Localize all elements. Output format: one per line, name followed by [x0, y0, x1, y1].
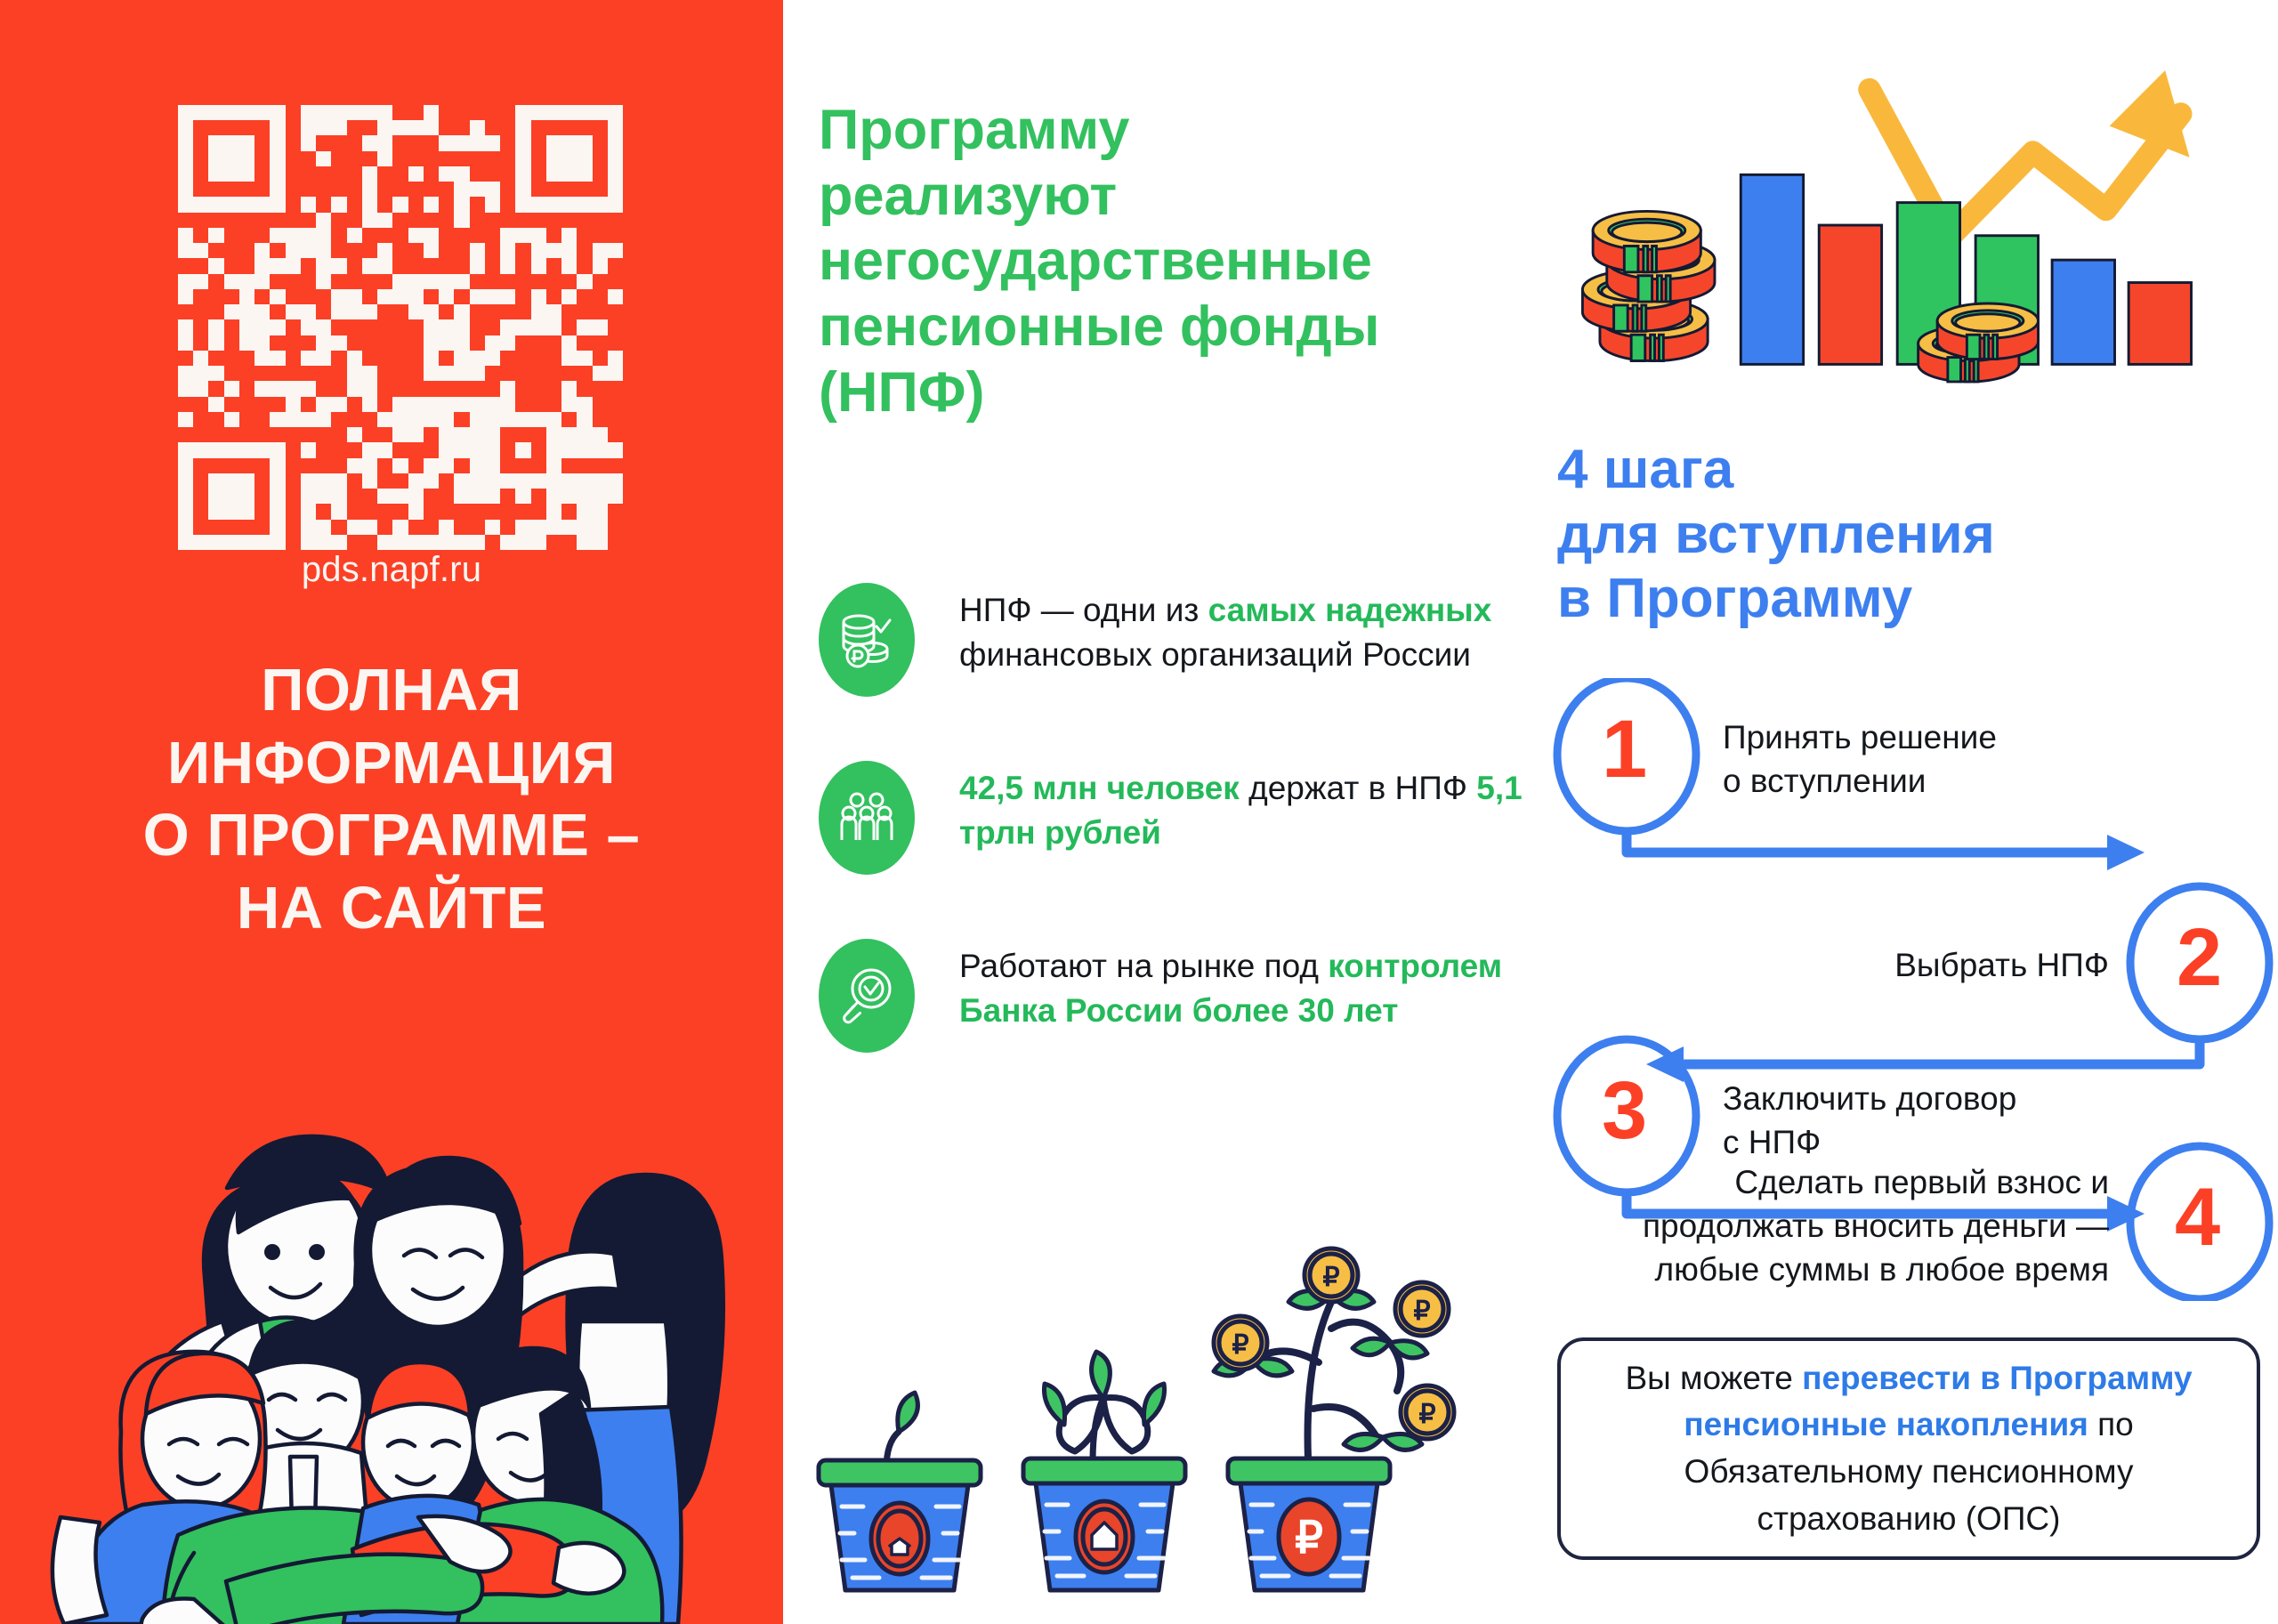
right-column: 4 шага для вступления в Программу: [1548, 0, 2278, 1624]
blue-heading-line-2: для вступления: [1557, 503, 2269, 568]
blue-heading-line-1: 4 шага: [1557, 438, 2269, 503]
step-4-line-3: любые суммы в любое время: [1557, 1248, 2109, 1291]
arrow-1-to-2: [1627, 831, 2107, 852]
fact-2-part-2: держат в НПФ: [1240, 770, 1476, 806]
coins-check-icon: [819, 583, 915, 697]
fact-3-part-1: Работают на рынке под: [959, 948, 1328, 984]
fact-2-highlight-1: 42,5 млн человек: [959, 770, 1240, 806]
steps-flow: 1 Принять решение о вступлении 2 Выбрать…: [1548, 678, 2278, 1301]
page-title-line-2: ИНФОРМАЦИЯ: [0, 727, 783, 800]
blue-heading-line-3: в Программу: [1557, 567, 2269, 632]
growing-plants-pots-illustration: ₽ ₽ ₽ ₽ ₽: [810, 1186, 1539, 1604]
page-title-line-3: О ПРОГРАММЕ –: [0, 799, 783, 872]
svg-text:₽: ₽: [1295, 1513, 1323, 1563]
step-3-line-2: с НПФ: [1723, 1120, 2016, 1164]
qr-code[interactable]: [178, 105, 623, 550]
step-number-2: 2: [2177, 917, 2222, 998]
green-heading-line-3: негосударственные: [819, 229, 1539, 295]
section-heading-program: Программу реализуют негосударственные пе…: [819, 98, 1539, 426]
section-heading-steps: 4 шага для вступления в Программу: [1557, 438, 2269, 632]
step-1-line-2: о вступлении: [1723, 759, 1997, 803]
green-heading-line-2: реализуют: [819, 164, 1539, 230]
site-url[interactable]: pds.napf.ru: [0, 550, 783, 590]
step-number-3: 3: [1602, 1070, 1647, 1151]
svg-text:₽: ₽: [1413, 1297, 1430, 1326]
step-label-1: Принять решение о вступлении: [1723, 715, 1997, 803]
green-heading-line-4: пенсионные фонды: [819, 295, 1539, 360]
green-heading-line-1: Программу: [819, 98, 1539, 164]
step-3-line-1: Заключить договор: [1723, 1077, 2016, 1120]
people-group-icon: [819, 761, 915, 875]
left-red-panel: pds.napf.ru ПОЛНАЯ ИНФОРМАЦИЯ О ПРОГРАММ…: [0, 0, 783, 1624]
step-4-line-1: Сделать первый взнос и: [1557, 1160, 2109, 1204]
svg-text:₽: ₽: [1322, 1263, 1339, 1292]
fact-text-3: Работают на рынке под контролем Банка Ро…: [959, 939, 1539, 1034]
green-heading-line-5: (НПФ): [819, 360, 1539, 426]
list-item: НПФ — одни из самых надежных финансовых …: [819, 583, 1539, 761]
step-number-4: 4: [2175, 1176, 2220, 1258]
step-4-line-2: продолжать вносить деньги —: [1557, 1204, 2109, 1248]
list-item: Работают на рынке под контролем Банка Ро…: [819, 939, 1539, 1117]
step-2-line-1: Выбрать НПФ: [1842, 943, 2109, 987]
group-hug-people-illustration: [36, 1054, 756, 1624]
page-title: ПОЛНАЯ ИНФОРМАЦИЯ О ПРОГРАММЕ – НА САЙТЕ: [0, 654, 783, 945]
step-label-4: Сделать первый взнос и продолжать вносит…: [1557, 1160, 2109, 1292]
fact-text-2: 42,5 млн человек держат в НПФ 5,1 трлн р…: [959, 761, 1539, 856]
fact-text-1: НПФ — одни из самых надежных финансовых …: [959, 583, 1539, 678]
callout-text: Вы можете перевести в Программу пенсионн…: [1561, 1355, 2257, 1542]
arrowhead-1: [2107, 835, 2145, 870]
bar-chart-with-coins-and-growth-arrow: [1548, 36, 2260, 418]
transfer-savings-callout: Вы можете перевести в Программу пенсионн…: [1557, 1337, 2260, 1560]
step-1-line-1: Принять решение: [1723, 715, 1997, 759]
fact-1-highlight: самых надежных: [1208, 592, 1492, 628]
list-item: 42,5 млн человек держат в НПФ 5,1 трлн р…: [819, 761, 1539, 939]
step-number-1: 1: [1602, 708, 1647, 790]
page-title-line-4: НА САЙТЕ: [0, 872, 783, 945]
magnifier-check-icon: [819, 939, 915, 1053]
arrow-2-to-3: [1684, 1039, 2200, 1064]
callout-part-1: Вы можете: [1625, 1360, 1802, 1396]
step-label-2: Выбрать НПФ: [1842, 943, 2109, 987]
page-title-line-1: ПОЛНАЯ: [0, 654, 783, 727]
svg-text:₽: ₽: [1418, 1400, 1435, 1429]
infographic-poster: pds.napf.ru ПОЛНАЯ ИНФОРМАЦИЯ О ПРОГРАММ…: [0, 0, 2278, 1624]
facts-list: НПФ — одни из самых надежных финансовых …: [819, 583, 1539, 1117]
fact-1-part-3: финансовых организаций России: [959, 636, 1471, 673]
arrowhead-3: [2107, 1196, 2145, 1232]
middle-column: Программу реализуют негосударственные пе…: [801, 0, 1539, 1624]
step-label-3: Заключить договор с НПФ: [1723, 1077, 2016, 1164]
svg-text:₽: ₽: [1232, 1330, 1248, 1360]
fact-1-part-1: НПФ — одни из: [959, 592, 1208, 628]
